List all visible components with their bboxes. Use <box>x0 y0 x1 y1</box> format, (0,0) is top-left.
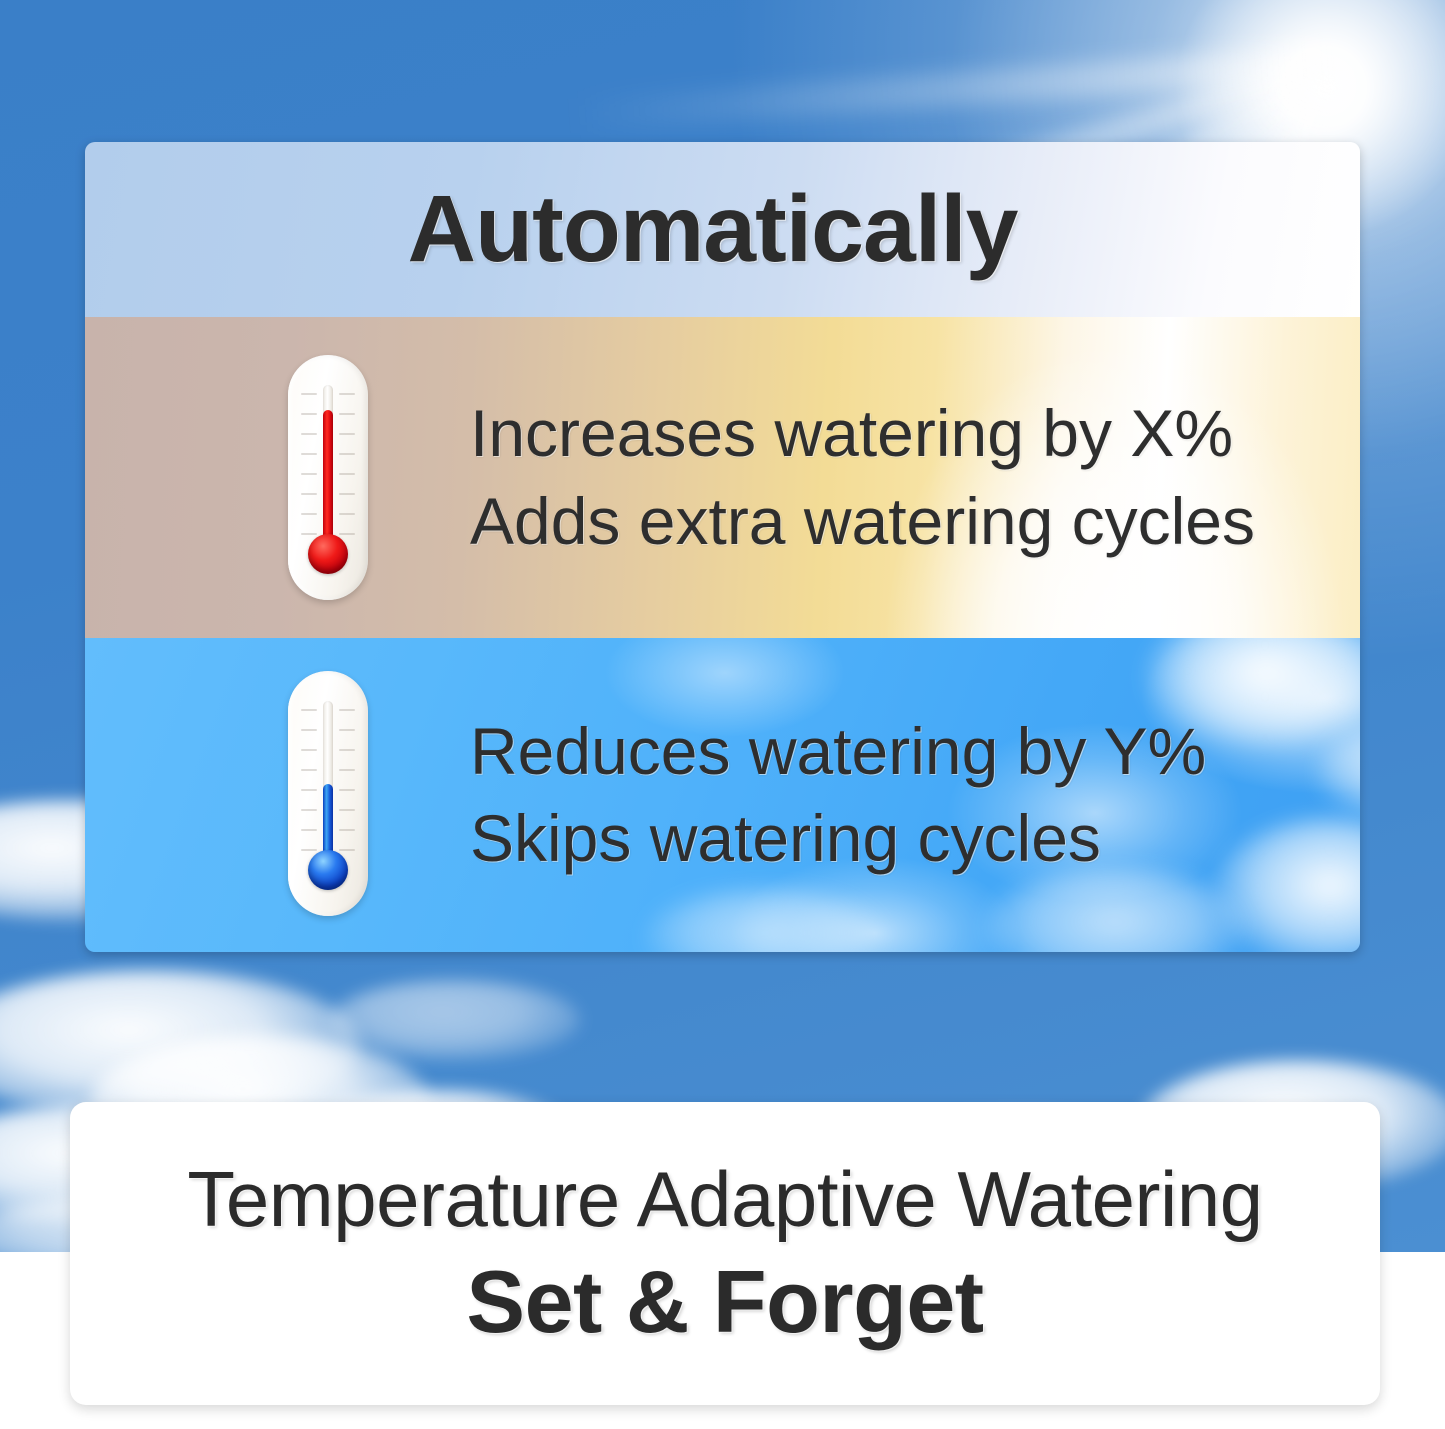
hot-line-2: Adds extra watering cycles <box>470 488 1255 555</box>
sun-ray <box>569 46 1330 133</box>
poster-canvas: Automatically <box>0 0 1445 1429</box>
thermometer-cold-icon <box>288 671 368 916</box>
hot-section-row: Increases watering by X% Adds extra wate… <box>85 317 1360 638</box>
cloud <box>330 980 580 1060</box>
cold-section-row: Reduces watering by Y% Skips watering cy… <box>85 638 1360 952</box>
thermometer-bulb-cold <box>308 850 348 890</box>
cold-section-text-block: Reduces watering by Y% Skips watering cy… <box>470 718 1206 873</box>
thermometer-bulb-hot <box>308 534 348 574</box>
thermometer-hot-icon <box>288 355 368 600</box>
hot-section-text-block: Increases watering by X% Adds extra wate… <box>470 400 1255 555</box>
hot-line-1: Increases watering by X% <box>470 400 1255 467</box>
hot-weather-section: Increases watering by X% Adds extra wate… <box>85 317 1360 638</box>
thermometer-mercury-cold <box>323 784 333 856</box>
feature-card: Automatically <box>85 142 1360 952</box>
caption-card: Temperature Adaptive Watering Set & Forg… <box>70 1102 1380 1405</box>
cold-line-1: Reduces watering by Y% <box>470 718 1206 785</box>
cloud <box>0 970 360 1120</box>
page-title: Automatically <box>408 175 1018 284</box>
cold-weather-section: Reduces watering by Y% Skips watering cy… <box>85 638 1360 952</box>
card-heading-band: Automatically <box>85 142 1360 317</box>
caption-line-1: Temperature Adaptive Watering <box>187 1154 1262 1245</box>
cold-line-2: Skips watering cycles <box>470 805 1206 872</box>
caption-line-2: Set & Forget <box>466 1251 983 1353</box>
thermometer-mercury-hot <box>323 410 333 540</box>
